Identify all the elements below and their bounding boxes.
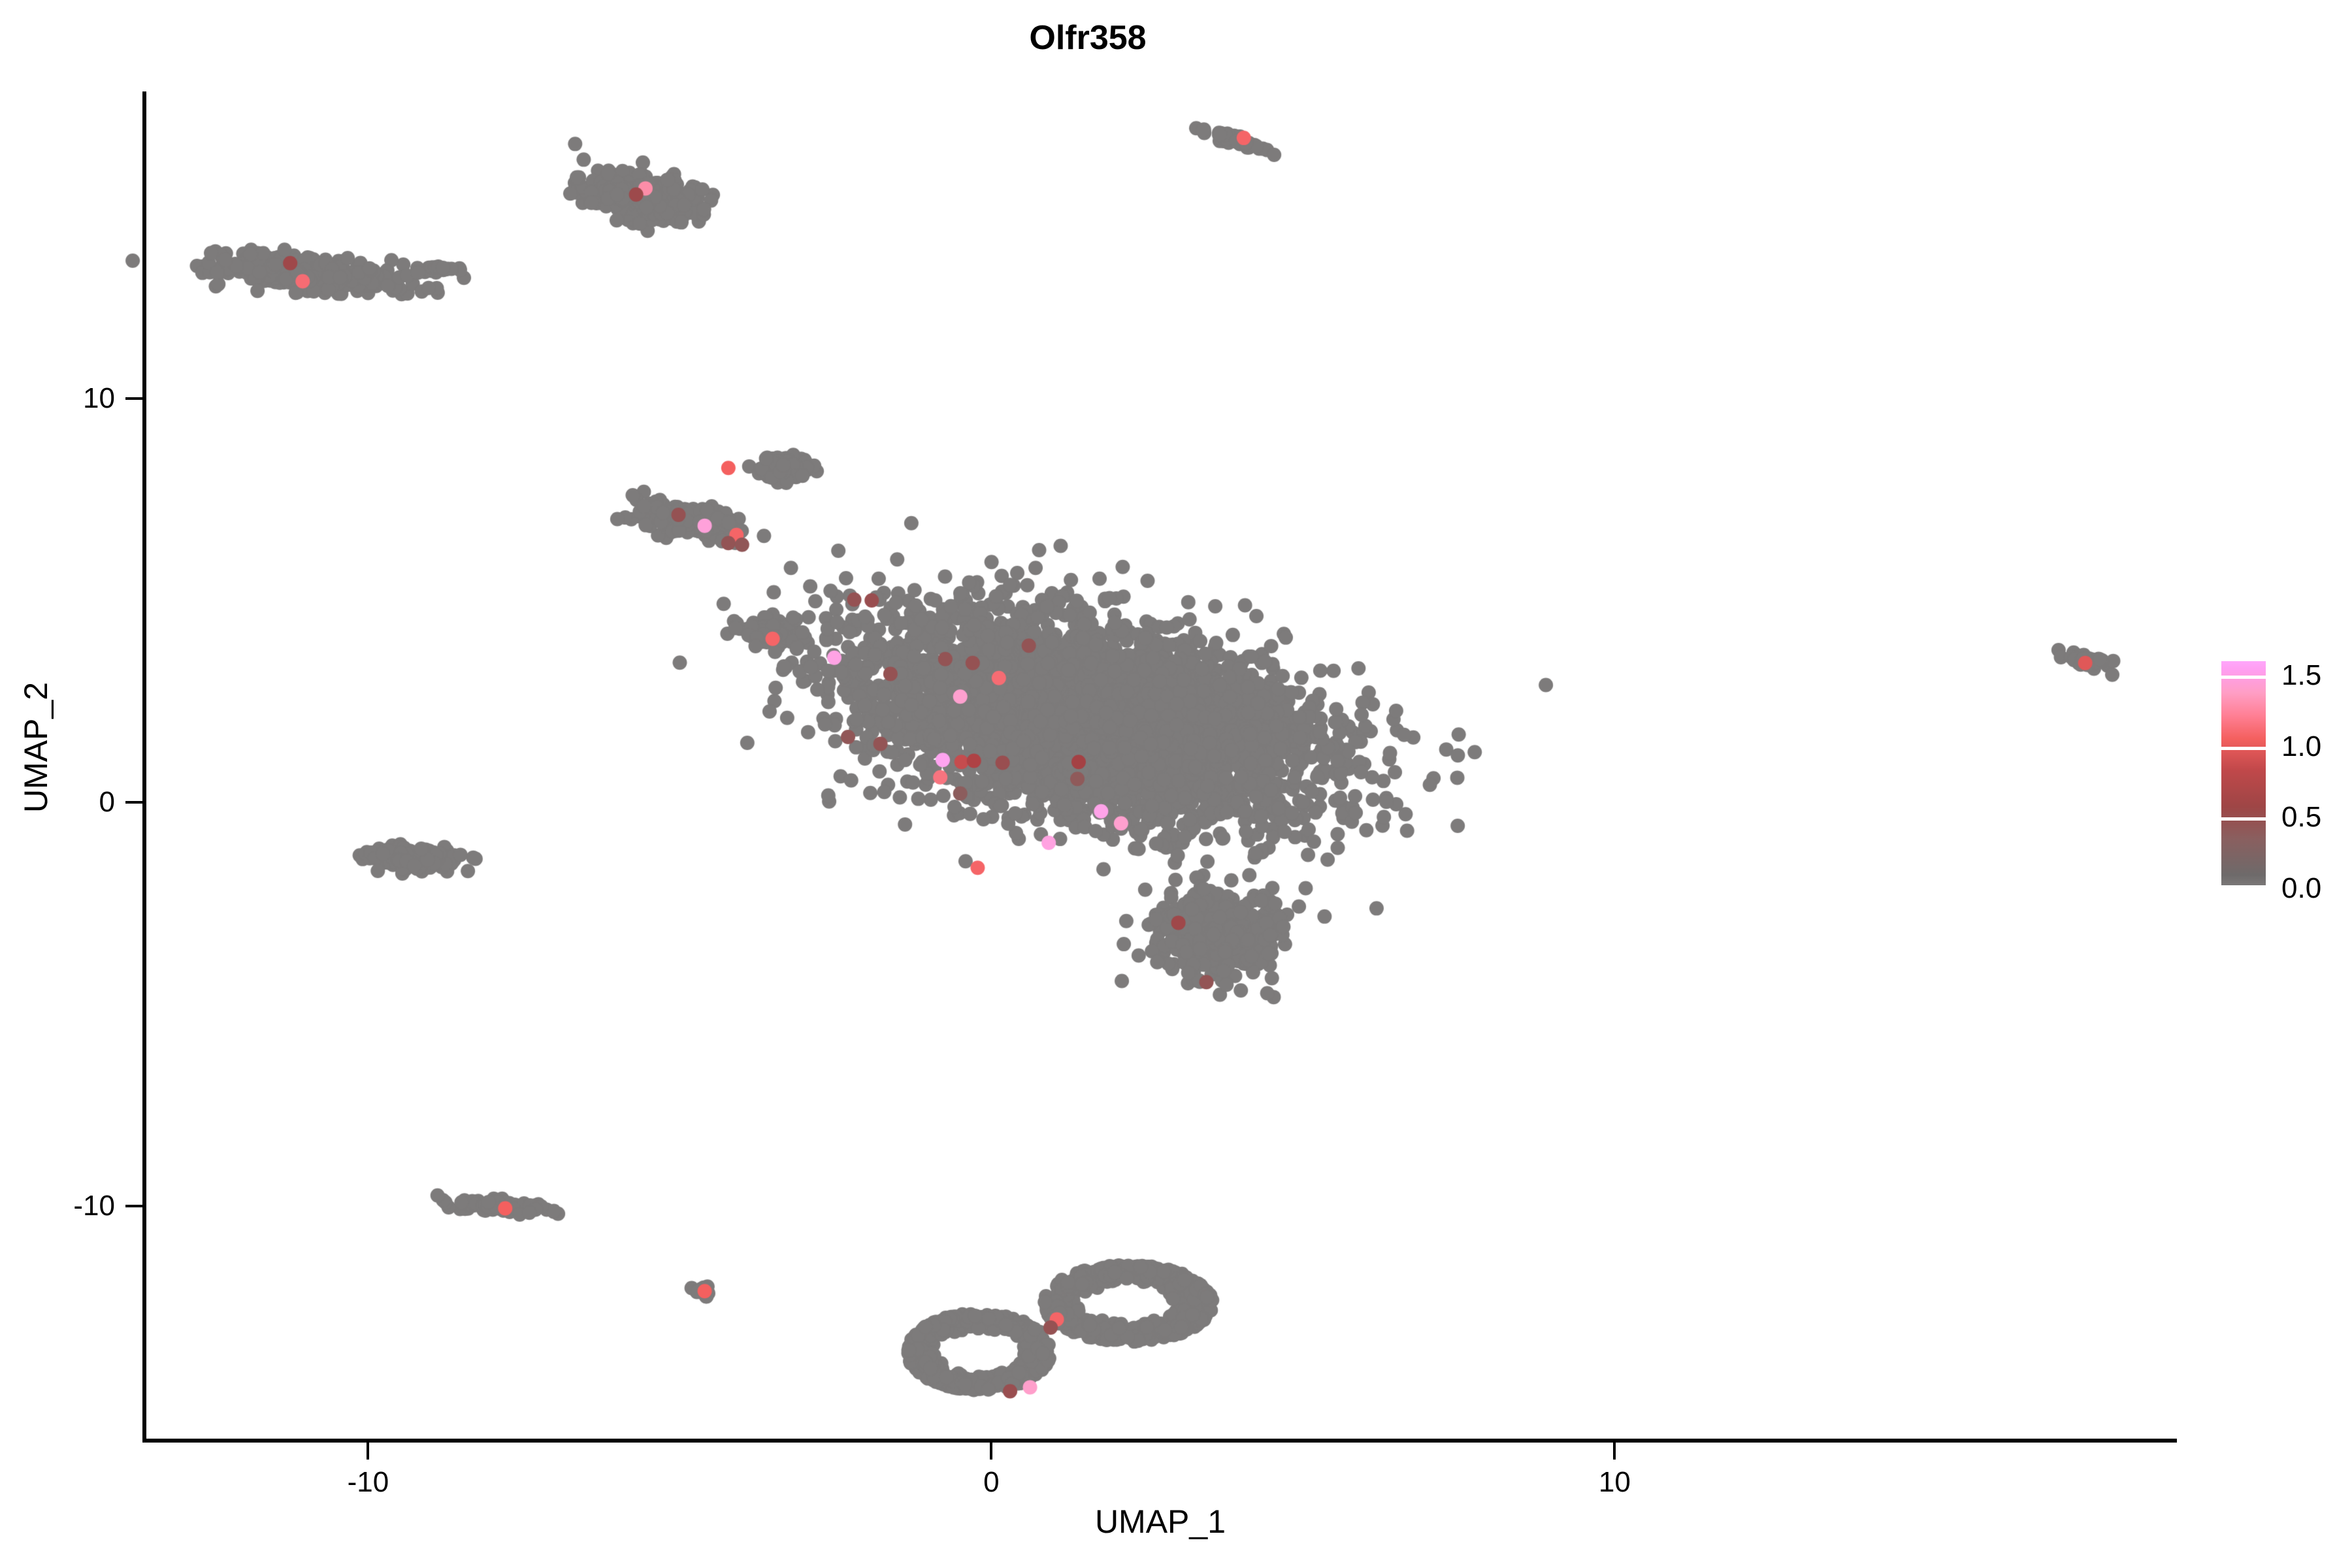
colorbar-gradient xyxy=(2221,661,2266,889)
x-tick-mark xyxy=(1613,1443,1616,1460)
x-axis-label: UMAP_1 xyxy=(144,1503,2177,1541)
y-tick-mark xyxy=(125,397,142,400)
y-tick-mark xyxy=(125,1205,142,1207)
colorbar-tick-label: 0.5 xyxy=(2281,801,2321,834)
y-tick-mark xyxy=(125,801,142,804)
x-tick-mark xyxy=(367,1443,369,1460)
colorbar-tick-label: 1.5 xyxy=(2281,659,2321,692)
y-tick-label: -10 xyxy=(73,1190,115,1222)
y-tick-label: 10 xyxy=(83,382,115,415)
x-tick-label: -10 xyxy=(348,1466,389,1499)
x-tick-label: 10 xyxy=(1599,1466,1631,1499)
y-tick-label: 0 xyxy=(99,786,115,819)
colorbar-tick-label: 0.0 xyxy=(2281,872,2321,905)
umap-feature-plot: Olfr358 -10010 100-10 UMAP_1 UMAP_2 1.51… xyxy=(0,0,2352,1568)
plot-panel xyxy=(144,91,2176,1441)
x-tick-label: 0 xyxy=(983,1466,999,1499)
colorbar-tick-label: 1.0 xyxy=(2281,730,2321,763)
colorbar-legend: 1.51.00.50.0 xyxy=(2221,661,2339,896)
y-axis-label: UMAP_2 xyxy=(17,388,55,1107)
x-tick-mark xyxy=(990,1443,992,1460)
scatter-canvas xyxy=(0,0,2352,1568)
